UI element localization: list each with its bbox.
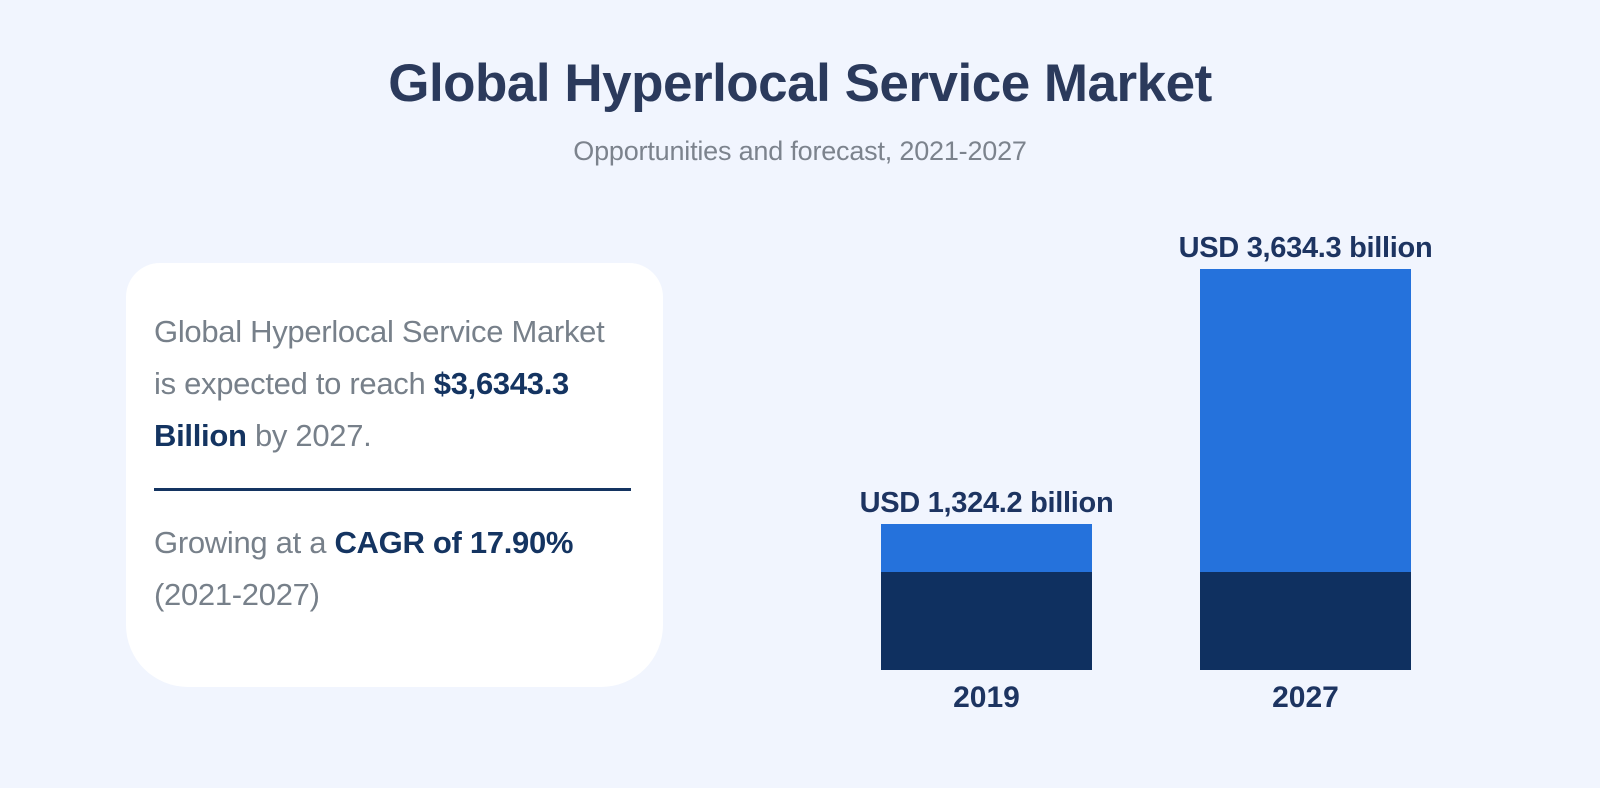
bar-segment-blue-2019 (881, 524, 1092, 572)
growth-tail: (2021-2027) (154, 577, 320, 612)
statement-tail: by 2027. (247, 418, 372, 453)
bar-category-label-2019: 2019 (881, 680, 1092, 716)
page-subtitle: Opportunities and forecast, 2021-2027 (0, 116, 1600, 168)
bar-category-label-2027: 2027 (1200, 680, 1411, 716)
bar-2019[interactable] (881, 524, 1092, 670)
chart-header: Global Hyperlocal Service Market Opportu… (0, 52, 1600, 168)
bar-2027[interactable] (1200, 269, 1411, 670)
cagr-statement: Growing at a CAGR of 17.90% (2021-2027) (154, 491, 633, 621)
bar-value-label-2019: USD 1,324.2 billion (860, 486, 1114, 520)
bar-chart: USD 1,324.2 billion 2019 USD 3,634.3 bil… (700, 180, 1580, 720)
growth-value: CAGR of 17.90% (334, 525, 573, 560)
bar-segment-blue-2027 (1200, 269, 1411, 572)
market-statement: Global Hyperlocal Service Market is expe… (154, 306, 633, 462)
infographic-canvas: Global Hyperlocal Service Market Opportu… (0, 0, 1600, 788)
page-title: Global Hyperlocal Service Market (0, 52, 1600, 116)
bar-segment-navy-2019 (881, 572, 1092, 670)
bar-value-label-2027: USD 3,634.3 billion (1179, 231, 1433, 265)
growth-lead: Growing at a (154, 525, 334, 560)
info-card: Global Hyperlocal Service Market is expe… (126, 263, 663, 687)
bar-segment-navy-2027 (1200, 572, 1411, 670)
